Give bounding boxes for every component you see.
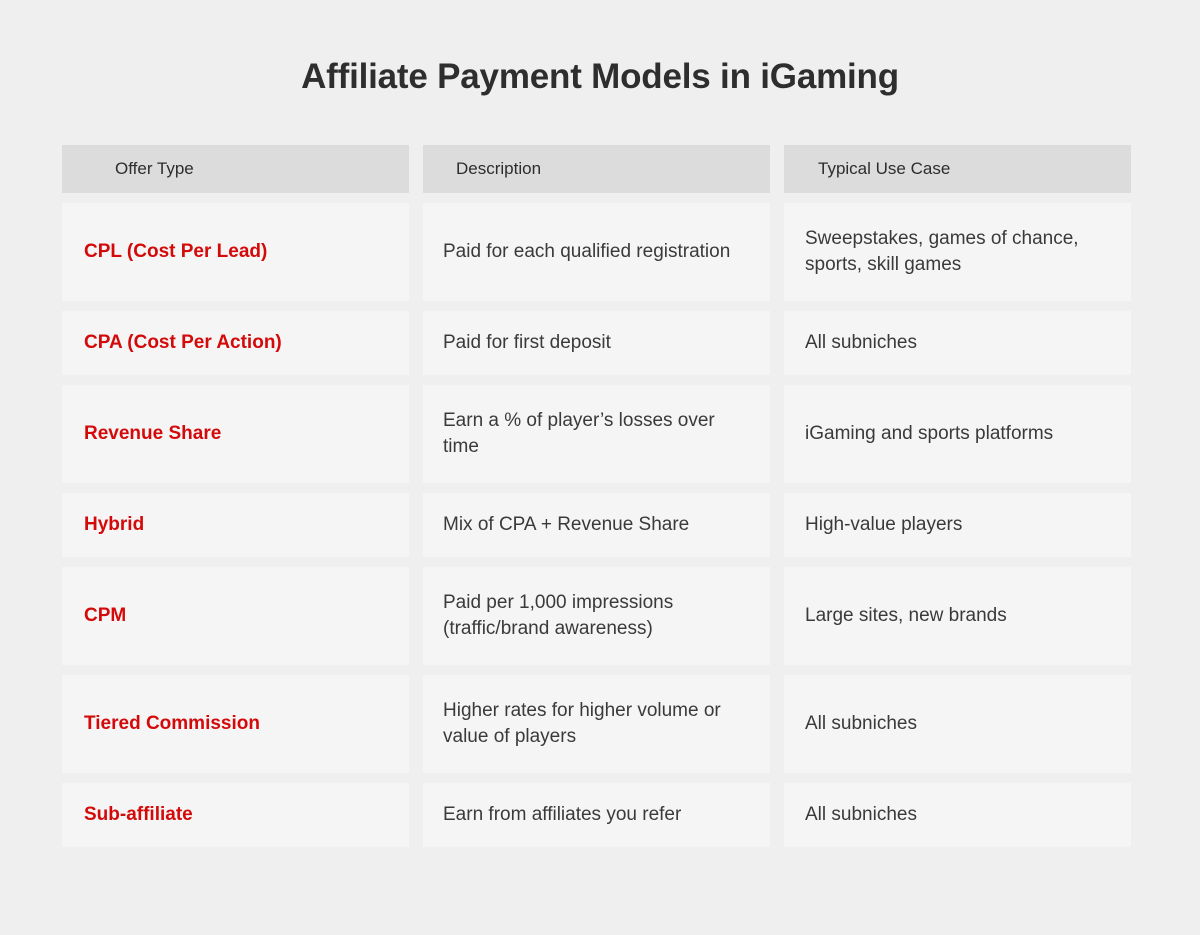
offer-type-label: Sub-affiliate xyxy=(84,803,193,827)
table-header-cell-description: Description xyxy=(423,145,770,193)
table-cell-description: Mix of CPA + Revenue Share xyxy=(423,493,770,557)
offer-type-label: CPA (Cost Per Action) xyxy=(84,331,282,355)
table-cell-use-case: High-value players xyxy=(784,493,1131,557)
table-cell-description: Earn from affiliates you refer xyxy=(423,783,770,847)
table-cell-offer-type: Hybrid xyxy=(62,493,409,557)
table-header-cell-typical-use-case: Typical Use Case xyxy=(784,145,1131,193)
table-cell-use-case: All subniches xyxy=(784,311,1131,375)
table-cell-offer-type: CPA (Cost Per Action) xyxy=(62,311,409,375)
use-case-label: Sweepstakes, games of chance, sports, sk… xyxy=(805,226,1110,277)
description-label: Paid per 1,000 impressions (traffic/bran… xyxy=(443,590,750,641)
use-case-label: All subniches xyxy=(805,330,917,356)
description-label: Mix of CPA + Revenue Share xyxy=(443,512,689,538)
table-cell-use-case: Large sites, new brands xyxy=(784,567,1131,665)
use-case-label: Large sites, new brands xyxy=(805,603,1007,629)
use-case-label: All subniches xyxy=(805,802,917,828)
offer-type-label: CPL (Cost Per Lead) xyxy=(84,240,267,264)
table-cell-description: Earn a % of player’s losses over time xyxy=(423,385,770,483)
infographic-page: Affiliate Payment Models in iGaming Offe… xyxy=(0,0,1200,935)
payment-models-table: Offer Type Description Typical Use Case … xyxy=(62,145,1131,847)
use-case-label: iGaming and sports platforms xyxy=(805,421,1053,447)
table-header-label: Typical Use Case xyxy=(818,159,950,179)
table-cell-description: Paid for first deposit xyxy=(423,311,770,375)
description-label: Paid for each qualified registration xyxy=(443,239,730,265)
table-cell-description: Paid per 1,000 impressions (traffic/bran… xyxy=(423,567,770,665)
table-cell-use-case: All subniches xyxy=(784,783,1131,847)
description-label: Earn from affiliates you refer xyxy=(443,802,681,828)
table-header-label: Description xyxy=(456,159,541,179)
table-cell-offer-type: Tiered Commission xyxy=(62,675,409,773)
table-cell-description: Higher rates for higher volume or value … xyxy=(423,675,770,773)
table-cell-use-case: All subniches xyxy=(784,675,1131,773)
table-row: CPA (Cost Per Action) Paid for first dep… xyxy=(62,311,1131,375)
table-row: Hybrid Mix of CPA + Revenue Share High-v… xyxy=(62,493,1131,557)
page-title: Affiliate Payment Models in iGaming xyxy=(0,56,1200,98)
table-row: CPM Paid per 1,000 impressions (traffic/… xyxy=(62,567,1131,665)
description-label: Paid for first deposit xyxy=(443,330,611,356)
use-case-label: All subniches xyxy=(805,711,917,737)
description-label: Earn a % of player’s losses over time xyxy=(443,408,750,459)
table-cell-offer-type: CPL (Cost Per Lead) xyxy=(62,203,409,301)
table-header-row: Offer Type Description Typical Use Case xyxy=(62,145,1131,193)
table-header-cell-offer-type: Offer Type xyxy=(62,145,409,193)
table-row: Tiered Commission Higher rates for highe… xyxy=(62,675,1131,773)
offer-type-label: CPM xyxy=(84,604,126,628)
table-row: Sub-affiliate Earn from affiliates you r… xyxy=(62,783,1131,847)
use-case-label: High-value players xyxy=(805,512,962,538)
offer-type-label: Hybrid xyxy=(84,513,144,537)
table-cell-description: Paid for each qualified registration xyxy=(423,203,770,301)
table-cell-use-case: Sweepstakes, games of chance, sports, sk… xyxy=(784,203,1131,301)
table-cell-offer-type: Revenue Share xyxy=(62,385,409,483)
table-cell-use-case: iGaming and sports platforms xyxy=(784,385,1131,483)
description-label: Higher rates for higher volume or value … xyxy=(443,698,750,749)
table-row: Revenue Share Earn a % of player’s losse… xyxy=(62,385,1131,483)
table-cell-offer-type: CPM xyxy=(62,567,409,665)
offer-type-label: Revenue Share xyxy=(84,422,221,446)
offer-type-label: Tiered Commission xyxy=(84,712,260,736)
table-row: CPL (Cost Per Lead) Paid for each qualif… xyxy=(62,203,1131,301)
table-header-label: Offer Type xyxy=(115,159,194,179)
table-cell-offer-type: Sub-affiliate xyxy=(62,783,409,847)
